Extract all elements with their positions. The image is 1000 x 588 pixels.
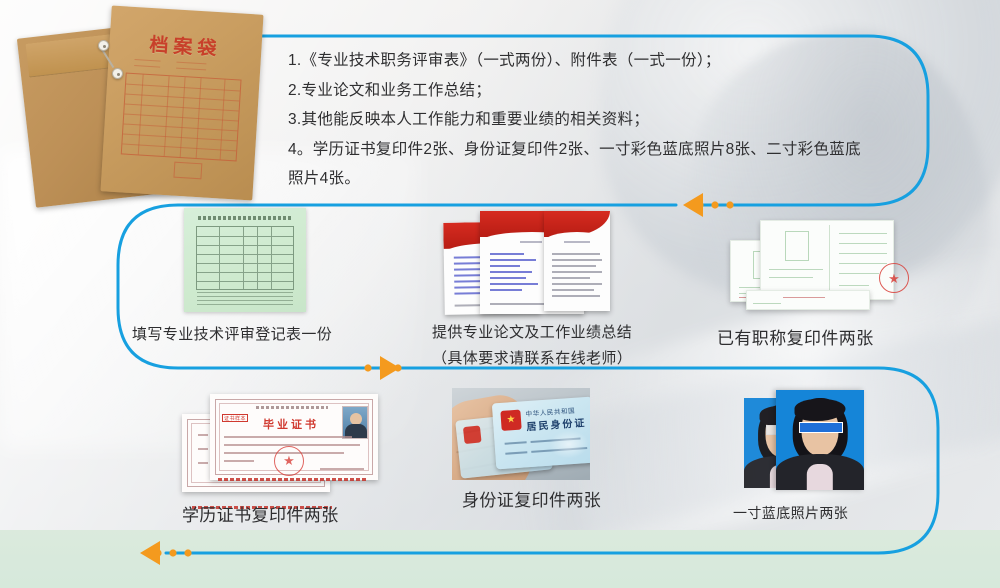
registration-form-thumbnail: [184, 208, 306, 312]
blue-background-photo-thumbnail: [744, 390, 864, 490]
envelope-string-button-bottom: [112, 68, 123, 79]
thesis-documents-thumbnail: [444, 206, 610, 314]
dots-row2-dot: [364, 364, 371, 371]
caption-registration-form: 填写专业技术评审登记表一份: [132, 324, 332, 345]
registration-form-page: [184, 208, 306, 312]
requirement-line-4: 4。学历证书复印件2张、身份证复印件2张、一寸彩色蓝底照片8张、二寸彩色蓝底照片…: [288, 135, 868, 194]
requirement-line-1: 1.《专业技术职务评审表》（一式两份）、附件表（一式一份）；: [288, 46, 868, 76]
form-heading-line: [198, 216, 292, 220]
diploma-title-text: 毕业证书: [248, 416, 334, 432]
form-table-grid: [196, 226, 294, 290]
envelope-string-button-top: [98, 40, 109, 51]
diploma-red-stamp: ★: [274, 446, 304, 476]
diploma-portrait-photo: [342, 406, 368, 439]
requirements-text-block: 1.《专业技术职务评审表》（一式两份）、附件表（一式一份）； 2.专业论文和业务…: [288, 46, 868, 194]
id-card-front: ★ 中华人民共和国 居民身份证: [492, 397, 590, 470]
requirement-line-2: 2.专业论文和业务工作总结；: [288, 76, 868, 106]
diploma-front-sheet: 证书样本 毕业证书 ★: [210, 394, 378, 480]
caption-existing-title: 已有职称复印件两张: [717, 328, 874, 349]
certificate-red-stamp: ★: [879, 263, 909, 293]
arrow-row1-to-row2: [683, 193, 703, 217]
certificate-bottom-sheet: [746, 290, 870, 310]
caption-id-card: 身份证复印件两张: [462, 490, 601, 511]
caption-thesis-line2: （具体要求请联系在线老师）: [432, 346, 632, 372]
photo-censor-bar: [799, 422, 843, 433]
diploma-sample-tag: 证书样本: [222, 414, 248, 422]
caption-thesis-summary: 提供专业论文及工作业绩总结 （具体要求请联系在线老师）: [432, 320, 632, 372]
arrow-row2-to-row3: [380, 356, 400, 380]
thesis-page-right: [544, 211, 610, 311]
envelope-form-grid: [121, 73, 242, 162]
id-card-watermark: [548, 429, 590, 460]
caption-diploma: 学历证书复印件两张: [182, 505, 339, 526]
existing-title-certificate-thumbnail: ★: [730, 214, 894, 310]
caption-thesis-line1: 提供专业论文及工作业绩总结: [432, 320, 632, 346]
dots-row3-dot: [169, 549, 176, 556]
envelope-title-text: 档案袋: [125, 28, 246, 62]
envelope-footer-box: [173, 162, 202, 180]
id-photo-front: [776, 390, 864, 490]
archive-envelope-photo: 档案袋: [22, 8, 258, 204]
arrow-row3-end: [140, 541, 160, 565]
diploma-institution-line: [256, 406, 328, 409]
caption-blue-photo: 一寸蓝底照片两张: [733, 503, 848, 524]
requirement-line-3: 3.其他能反映本人工作能力和重要业绩的相关资料；: [288, 105, 868, 135]
certificate-main-sheet: ★: [760, 220, 894, 300]
diploma-thumbnail: 证书样本 毕业证书 ★: [182, 392, 378, 494]
national-emblem-icon: ★: [500, 410, 521, 431]
dots-row1-dot: [711, 201, 718, 208]
envelope-front-sheet: 档案袋: [100, 6, 263, 201]
photo-shirt: [807, 464, 833, 490]
id-card-back-emblem: [463, 425, 482, 444]
id-card-thumbnail: ★ 中华人民共和国 居民身份证: [452, 388, 590, 480]
dots-row1-dot: [726, 201, 733, 208]
diploma-front-red-footer: [218, 478, 368, 481]
thesis-red-header: [544, 211, 610, 237]
dots-row3-dot: [184, 549, 191, 556]
form-footnote-lines: [197, 292, 293, 306]
